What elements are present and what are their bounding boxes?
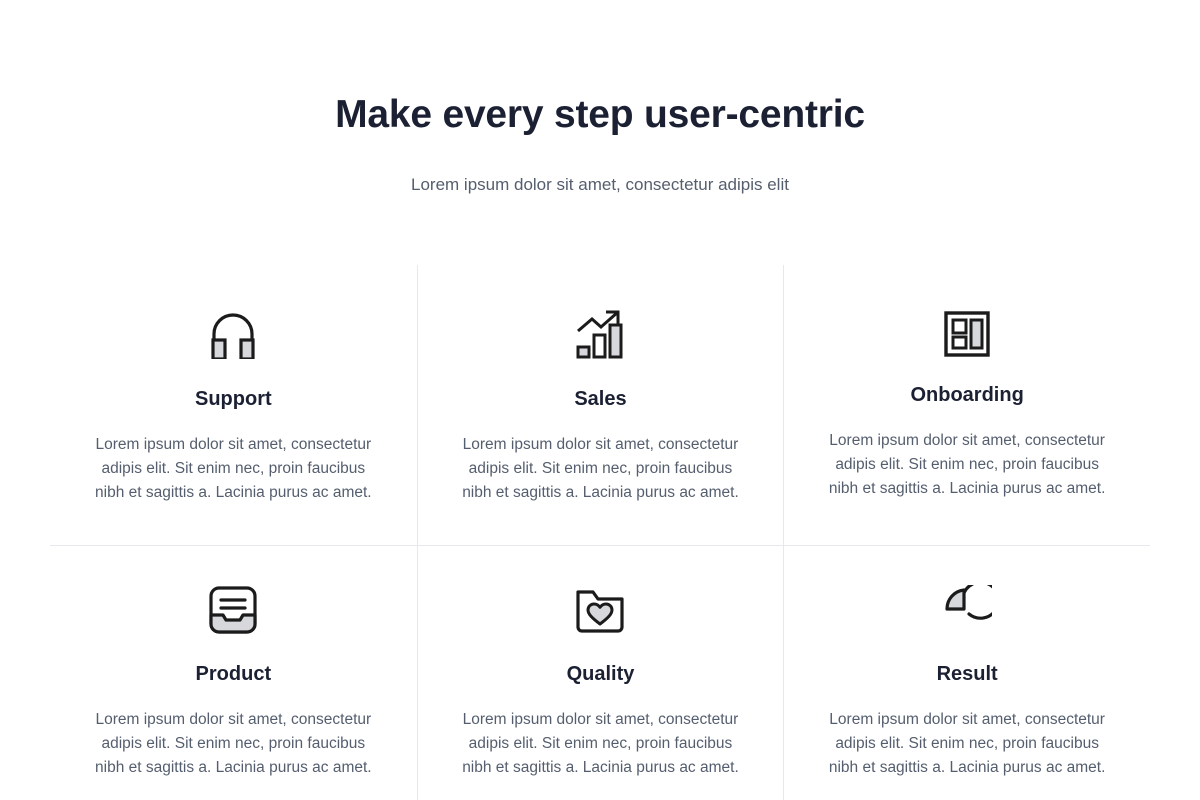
- feature-card-product[interactable]: Product Lorem ipsum dolor sit amet, cons…: [50, 546, 417, 800]
- feature-title: Quality: [448, 662, 754, 686]
- feature-grid-row-1: Support Lorem ipsum dolor sit amet, cons…: [50, 265, 1150, 545]
- feature-grid: Support Lorem ipsum dolor sit amet, cons…: [50, 265, 1150, 800]
- feature-description: Lorem ipsum dolor sit amet, consectetur …: [80, 708, 387, 780]
- feature-description: Lorem ipsum dolor sit amet, consectetur …: [448, 708, 754, 780]
- feature-description: Lorem ipsum dolor sit amet, consectetur …: [814, 429, 1120, 501]
- feature-title: Support: [80, 387, 387, 411]
- feature-title: Sales: [448, 387, 754, 411]
- feature-description: Lorem ipsum dolor sit amet, consectetur …: [448, 433, 754, 505]
- feature-title: Onboarding: [814, 383, 1120, 407]
- headphones-icon: [80, 303, 387, 365]
- feature-description: Lorem ipsum dolor sit amet, consectetur …: [814, 708, 1120, 780]
- inbox-archive-icon: [80, 580, 387, 640]
- feature-card-onboarding[interactable]: Onboarding Lorem ipsum dolor sit amet, c…: [783, 265, 1150, 545]
- feature-description: Lorem ipsum dolor sit amet, consectetur …: [80, 433, 387, 505]
- feature-title: Result: [814, 662, 1120, 686]
- feature-grid-row-2: Product Lorem ipsum dolor sit amet, cons…: [50, 545, 1150, 800]
- feature-card-quality[interactable]: Quality Lorem ipsum dolor sit amet, cons…: [417, 546, 784, 800]
- section-header: Make every step user-centric Lorem ipsum…: [0, 0, 1200, 197]
- feature-card-sales[interactable]: Sales Lorem ipsum dolor sit amet, consec…: [417, 265, 784, 545]
- folder-heart-icon: [448, 580, 754, 640]
- feature-title: Product: [80, 662, 387, 686]
- feature-card-result[interactable]: Result Lorem ipsum dolor sit amet, conse…: [783, 546, 1150, 800]
- landing-page-features-section: Make every step user-centric Lorem ipsum…: [0, 0, 1200, 800]
- pie-chart-icon: [814, 580, 1120, 640]
- dashboard-layout-icon: [814, 303, 1120, 365]
- page-subtitle: Lorem ipsum dolor sit amet, consectetur …: [0, 173, 1200, 197]
- page-title: Make every step user-centric: [0, 92, 1200, 138]
- bar-chart-growth-icon: [448, 303, 754, 365]
- feature-card-support[interactable]: Support Lorem ipsum dolor sit amet, cons…: [50, 265, 417, 545]
